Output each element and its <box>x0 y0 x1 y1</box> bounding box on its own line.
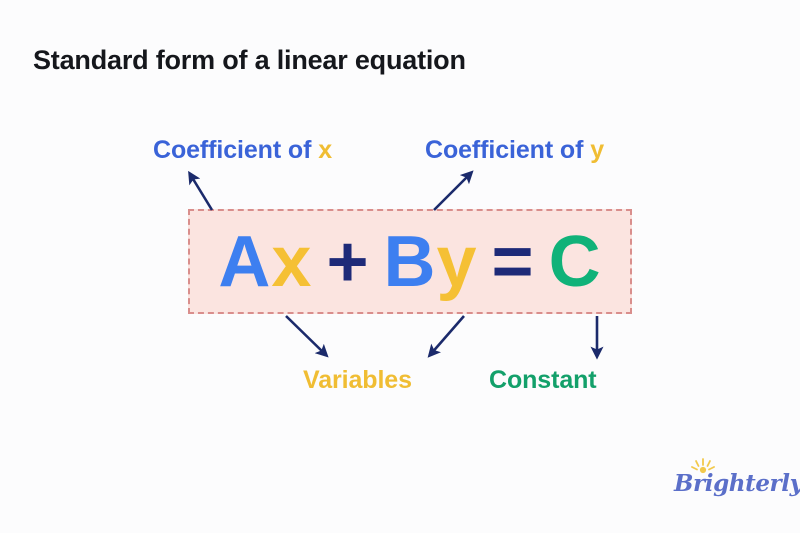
arrow-from-y-to-variables-icon <box>430 316 464 355</box>
callout-coefficient-of-y: Coefficient of y <box>425 136 604 165</box>
equation-standard-form: Ax+By=C <box>190 226 630 298</box>
page-title: Standard form of a linear equation <box>33 45 466 76</box>
equation-term-a: A <box>218 222 271 302</box>
callout-coefficient-of-x: Coefficient of x <box>153 136 332 165</box>
arrow-from-x-to-variables-icon <box>286 316 326 355</box>
equation-term-b: B <box>384 222 437 302</box>
arrow-to-coefficient-y-icon <box>434 173 471 210</box>
equation-term-y: y <box>437 222 478 302</box>
arrow-to-coefficient-x-icon <box>190 174 212 210</box>
equation-term-x: x <box>271 222 312 302</box>
equation-operator-equals: = <box>492 222 535 302</box>
brighterly-logo-text: Brighterly <box>674 470 800 497</box>
callout-coefficient-x-variable: x <box>318 136 332 164</box>
callout-coefficient-y-prefix: Coefficient of <box>425 136 583 164</box>
equation-term-c: C <box>549 222 602 302</box>
callout-variables: Variables <box>303 366 412 395</box>
callout-coefficient-x-prefix: Coefficient of <box>153 136 311 164</box>
brighterly-logo: Brighterly <box>672 458 782 503</box>
equation-highlight-box: Ax+By=C <box>188 209 632 314</box>
diagram-canvas: Standard form of a linear equation Coeff… <box>0 0 800 533</box>
callout-coefficient-y-variable: y <box>590 136 604 164</box>
equation-operator-plus: + <box>326 222 369 302</box>
callout-constant: Constant <box>489 366 597 395</box>
